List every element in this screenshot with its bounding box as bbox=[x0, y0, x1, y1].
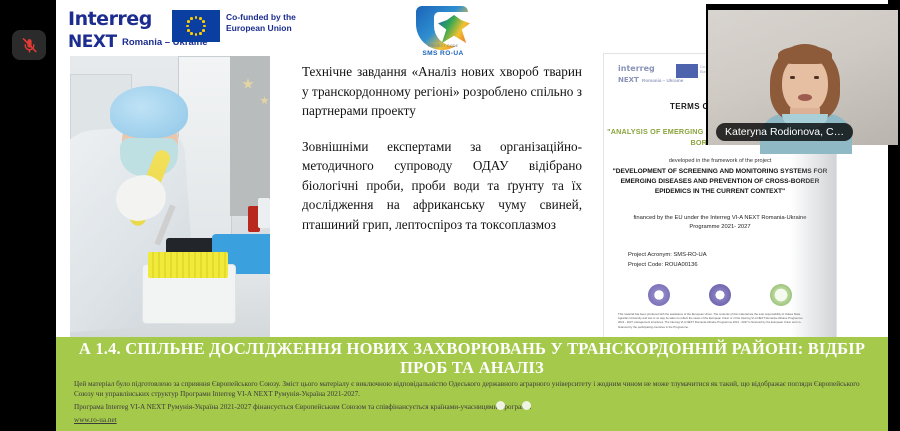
document-logo-next: NEXT bbox=[618, 76, 639, 84]
microphone-muted-icon[interactable] bbox=[12, 30, 46, 60]
document-logo-word: interreg bbox=[618, 64, 655, 73]
meeting-screen-share-view: Interreg NEXT Romania – Ukraine Co-funde… bbox=[0, 0, 900, 431]
video-person-mouth bbox=[798, 94, 812, 101]
partner-logo-icon bbox=[709, 284, 731, 306]
slide-paragraph-1: Технічне завдання «Аналіз нових хвороб т… bbox=[302, 62, 582, 121]
mic-off-glyph bbox=[21, 37, 38, 54]
interreg-next-wordmark: NEXT bbox=[68, 32, 117, 52]
sms-ro-ua-logo: PROJECT CODE SMS RO-UA bbox=[404, 4, 482, 66]
footer-disclaimer-1: Цей матеріал було підготовлено за сприян… bbox=[74, 379, 870, 399]
document-eu-flag-icon bbox=[676, 64, 698, 78]
sms-logo-subtitle: PROJECT CODE bbox=[404, 44, 482, 48]
footer-website-link[interactable]: www.ro-ua.net bbox=[74, 415, 870, 425]
participant-name-label: Kateryna Rodionova, C… bbox=[716, 123, 853, 141]
slide-banner-title: А 1.4. СПІЛЬНЕ ДОСЛІДЖЕННЯ НОВИХ ЗАХВОРЮ… bbox=[73, 339, 872, 377]
laboratory-photo bbox=[70, 56, 270, 337]
partner-logo-icon bbox=[648, 284, 670, 306]
slide-body-text: Технічне завдання «Аналіз нових хвороб т… bbox=[302, 62, 582, 250]
photo-grey-wall bbox=[230, 56, 270, 216]
cursor-dot bbox=[496, 401, 505, 410]
slide-paragraph-2: Зовнішніми експертами за організаційно-м… bbox=[302, 137, 582, 235]
slide-footer: Цей матеріал було підготовлено за сприян… bbox=[56, 375, 888, 431]
interreg-logo: Interreg NEXT Romania – Ukraine Co-funde… bbox=[64, 8, 294, 56]
photo-hair-cap bbox=[110, 86, 188, 138]
sms-logo-title: SMS RO-UA bbox=[404, 50, 482, 57]
video-person-face bbox=[782, 56, 828, 114]
cursor-dot bbox=[522, 401, 531, 410]
video-person-fringe bbox=[778, 46, 832, 64]
document-project-code: Project Code: ROUA00136 bbox=[628, 260, 707, 270]
video-person-eye bbox=[790, 76, 795, 79]
participant-video-tile[interactable]: Kateryna Rodionova, C… bbox=[706, 4, 900, 145]
footer-disclaimer-2: Програма Interreg VI-A NEXT Румунія-Укра… bbox=[74, 402, 870, 412]
document-logo-programme: Romania – Ukraine bbox=[642, 78, 683, 83]
photo-white-vial bbox=[258, 198, 270, 228]
document-fine-print: This material has been produced with the… bbox=[618, 312, 804, 329]
eu-funding-label: Co-funded by the European Union bbox=[226, 12, 316, 34]
document-meta: Project Acronym: SMS-RO-UA Project Code:… bbox=[628, 250, 707, 270]
slide-banner: А 1.4. СПІЛЬНЕ ДОСЛІДЖЕННЯ НОВИХ ЗАХВОРЮ… bbox=[56, 337, 888, 379]
document-project-acronym: Project Acronym: SMS-RO-UA bbox=[628, 250, 707, 260]
video-person-eye bbox=[814, 76, 819, 79]
interreg-wordmark: Interreg bbox=[68, 8, 152, 30]
partner-logo-icon bbox=[770, 284, 792, 306]
eu-flag-icon bbox=[172, 10, 220, 42]
photo-yellow-tips bbox=[148, 252, 228, 278]
